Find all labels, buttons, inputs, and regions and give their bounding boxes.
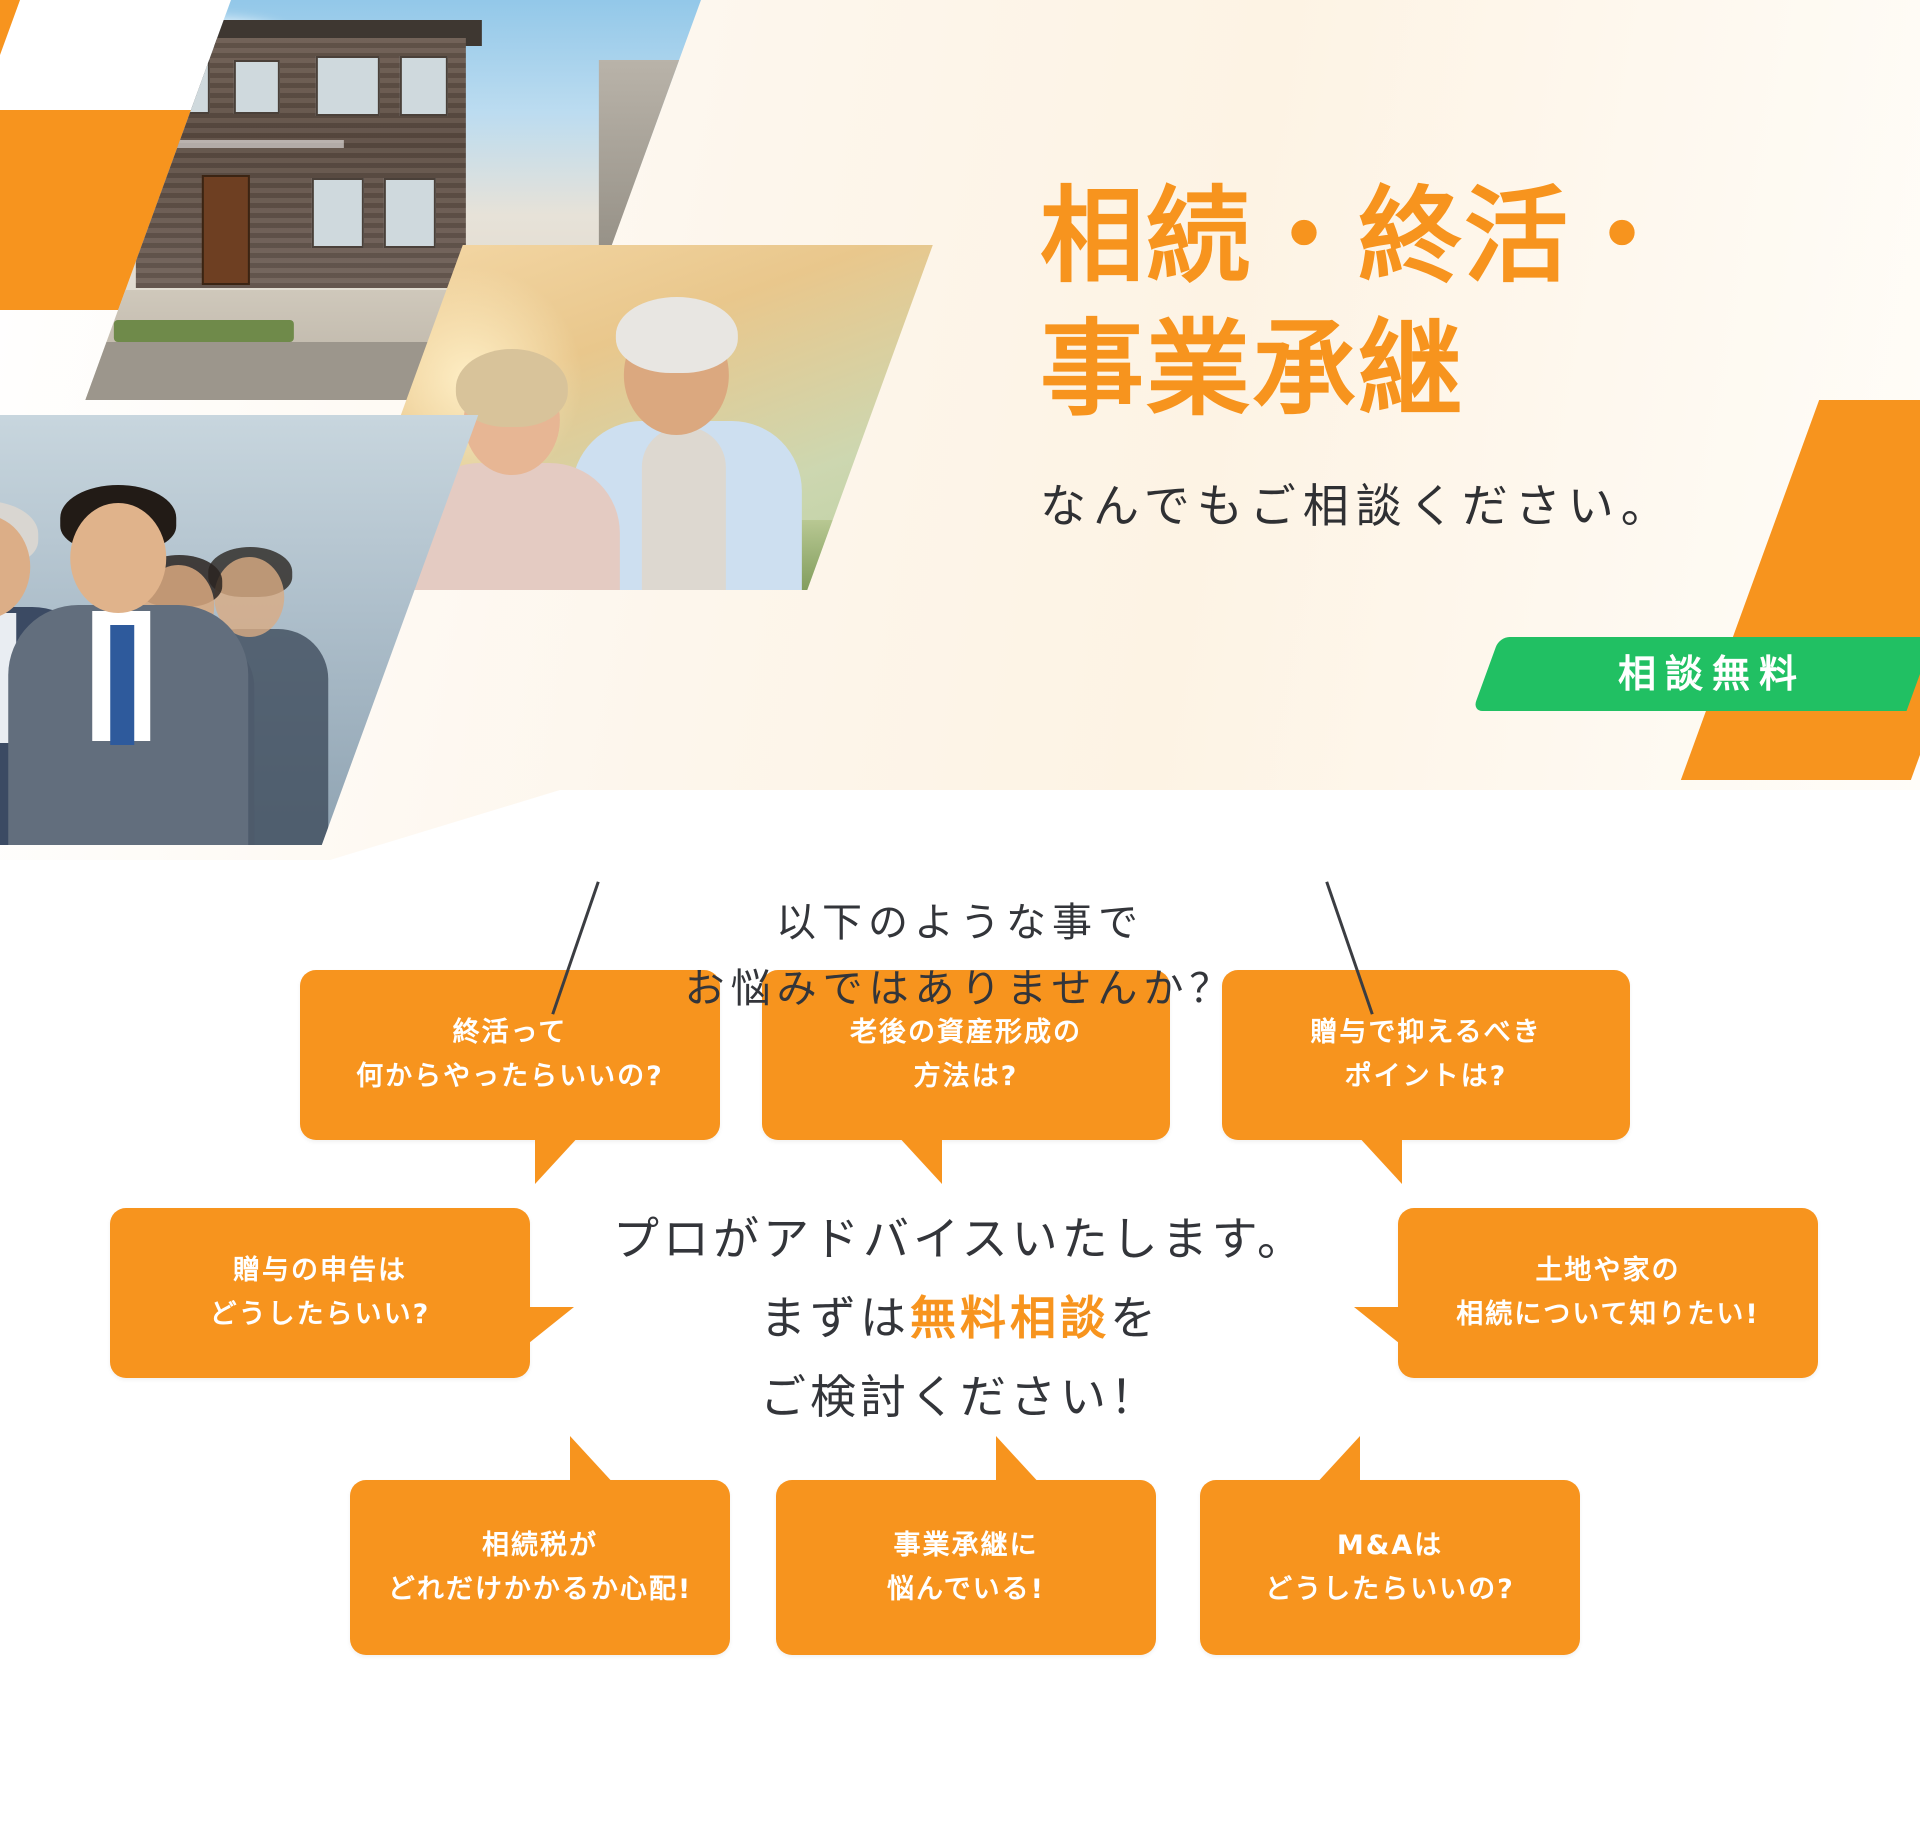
bubble-manda-line2: どうしたらいいの?	[1265, 1568, 1515, 1612]
bubble-jigyo-shokei-line1: 事業承継に	[887, 1524, 1045, 1568]
bubble-rogo-shisan-line2: 方法は?	[850, 1055, 1082, 1099]
center-message-highlight: 無料相談	[910, 1291, 1110, 1345]
bubble-tail-icon	[1356, 1134, 1402, 1184]
hero-title-line2: 事業承継	[1040, 303, 1860, 436]
problems-heading-line2: お悩みではありませんか？	[0, 956, 1920, 1022]
bubble-tochi-ie-line1: 土地や家の	[1456, 1249, 1760, 1293]
hero-subtitle: なんでもご相談ください。	[1040, 470, 1860, 536]
center-message-line2: まずは無料相談を	[560, 1279, 1360, 1358]
problems-heading-line1: 以下のような事で	[0, 890, 1920, 956]
bubble-tochi-ie[interactable]: 土地や家の 相続について知りたい!	[1398, 1208, 1818, 1378]
problems-section: 以下のような事で お悩みではありませんか？ 終活って 何からやったらいいの? 老…	[0, 860, 1920, 1840]
bubble-zoyo-shinkoku-line1: 贈与の申告は	[210, 1249, 431, 1293]
bubble-tail-icon	[1354, 1307, 1404, 1347]
bubble-sozokuzei-line1: 相続税が	[388, 1524, 692, 1568]
bubble-tail-icon	[996, 1436, 1042, 1486]
bubble-tail-icon	[1314, 1436, 1360, 1486]
bubble-sozokuzei-line2: どれだけかかるか心配!	[388, 1568, 692, 1612]
bubble-jigyo-shokei[interactable]: 事業承継に 悩んでいる!	[776, 1480, 1156, 1655]
center-message-line3: ご検討ください！	[560, 1358, 1360, 1437]
hero-section: 相続・終活・ 事業承継 なんでもご相談ください。 相談無料	[0, 0, 1920, 860]
bubble-tail-icon	[535, 1134, 581, 1184]
bubble-tail-icon	[896, 1134, 942, 1184]
bubble-manda-line1: M&Aは	[1265, 1524, 1515, 1568]
bubble-zoyo-shinkoku-line2: どうしたらいい?	[210, 1293, 431, 1337]
free-consultation-badge[interactable]: 相談無料	[1473, 637, 1920, 711]
center-message: プロがアドバイスいたします。 まずは無料相談を ご検討ください！	[560, 1200, 1360, 1437]
free-consultation-badge-label: 相談無料	[1486, 637, 1920, 711]
bubble-zoyo-shinkoku[interactable]: 贈与の申告は どうしたらいい?	[110, 1208, 530, 1378]
bubble-manda[interactable]: M&Aは どうしたらいいの?	[1200, 1480, 1580, 1655]
hero-title-line1: 相続・終活・	[1040, 170, 1860, 303]
center-message-line2-pre: まずは	[760, 1291, 910, 1345]
bubble-shukatsu-line2: 何からやったらいいの?	[356, 1055, 664, 1099]
center-message-line1: プロがアドバイスいたします。	[560, 1200, 1360, 1279]
bubble-tail-icon	[570, 1436, 616, 1486]
problems-heading: 以下のような事で お悩みではありませんか？	[0, 890, 1920, 1022]
bubble-sozokuzei[interactable]: 相続税が どれだけかかるか心配!	[350, 1480, 730, 1655]
bubble-zoyo-point-line2: ポイントは?	[1310, 1055, 1541, 1099]
bubble-tochi-ie-line2: 相続について知りたい!	[1456, 1293, 1760, 1337]
bubble-jigyo-shokei-line2: 悩んでいる!	[887, 1568, 1045, 1612]
center-message-line2-post: を	[1110, 1291, 1160, 1345]
hero-copy: 相続・終活・ 事業承継 なんでもご相談ください。	[1040, 170, 1860, 536]
